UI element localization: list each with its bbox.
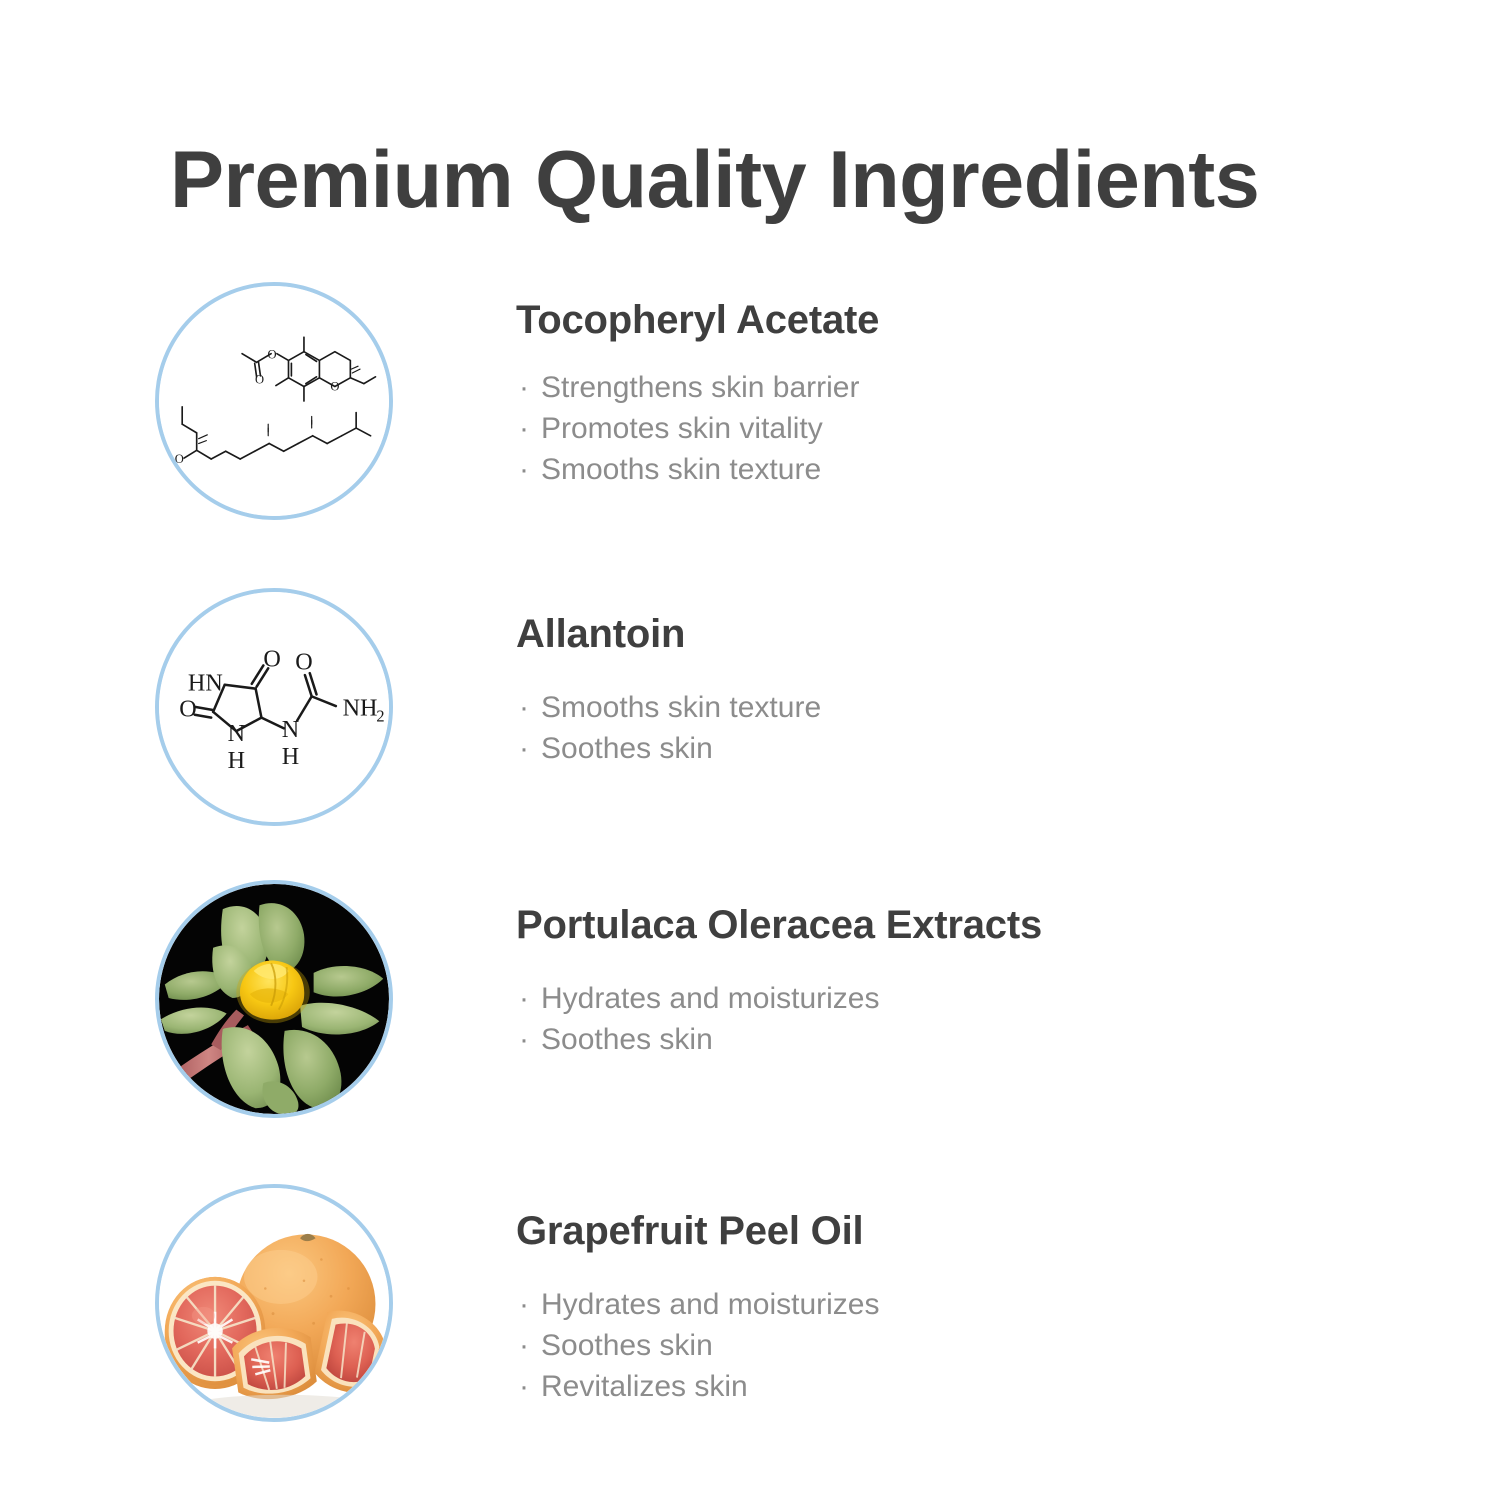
ingredient-name: Portulaca Oleracea Extracts — [516, 904, 1416, 946]
list-item: ·Soothes skin — [516, 728, 1416, 769]
molecule-diagram-icon: HN O O N H N H O NH 2 — [159, 592, 389, 822]
purslane-plant-photo-icon — [159, 884, 389, 1114]
ingredient-name: Tocopheryl Acetate — [516, 299, 1416, 341]
ingredient-image-purslane — [155, 880, 393, 1118]
ingredient-name: Allantoin — [516, 613, 1416, 655]
svg-text:H: H — [282, 743, 299, 770]
ingredient-text-block: Grapefruit Peel Oil ·Hydrates and moistu… — [516, 1184, 1416, 1407]
bullet-icon: · — [519, 449, 529, 490]
svg-text:O: O — [330, 379, 339, 393]
benefit-label: Smooths skin texture — [541, 453, 821, 486]
list-item: ·Soothes skin — [516, 1325, 1416, 1366]
ingredient-text-block: Tocopheryl Acetate ·Strengthens skin bar… — [516, 282, 1416, 490]
bullet-icon: · — [519, 1019, 529, 1060]
benefit-list: ·Smooths skin texture ·Soothes skin — [516, 687, 1416, 769]
benefit-label: Strengthens skin barrier — [541, 371, 860, 404]
list-item: ·Strengthens skin barrier — [516, 367, 1416, 408]
bullet-icon: · — [519, 367, 529, 408]
svg-text:O: O — [255, 373, 264, 387]
svg-text:2: 2 — [376, 706, 384, 725]
bullet-icon: · — [519, 1284, 529, 1325]
svg-text:HN: HN — [188, 670, 223, 697]
ingredient-image-allantoin: HN O O N H N H O NH 2 — [155, 588, 393, 826]
svg-text:O: O — [295, 648, 312, 675]
svg-text:O: O — [268, 347, 277, 361]
bullet-icon: · — [519, 687, 529, 728]
bullet-icon: · — [519, 1325, 529, 1366]
list-item: ·Promotes skin vitality — [516, 408, 1416, 449]
ingredient-text-block: Portulaca Oleracea Extracts ·Hydrates an… — [516, 880, 1416, 1060]
svg-text:NH: NH — [343, 695, 378, 722]
svg-text:O: O — [175, 452, 184, 466]
ingredient-image-tocopheryl-acetate: O O O — [155, 282, 393, 520]
svg-text:O: O — [179, 696, 196, 723]
benefit-label: Hydrates and moisturizes — [541, 1288, 879, 1321]
benefit-list: ·Hydrates and moisturizes ·Soothes skin … — [516, 1284, 1416, 1407]
benefit-list: ·Hydrates and moisturizes ·Soothes skin — [516, 978, 1416, 1060]
benefit-label: Soothes skin — [541, 1023, 713, 1056]
benefit-label: Hydrates and moisturizes — [541, 982, 879, 1015]
benefit-label: Revitalizes skin — [541, 1370, 748, 1403]
list-item: ·Revitalizes skin — [516, 1366, 1416, 1407]
benefit-label: Soothes skin — [541, 732, 713, 765]
svg-text:N: N — [228, 720, 245, 747]
benefit-label: Soothes skin — [541, 1329, 713, 1362]
page-title: Premium Quality Ingredients — [170, 140, 1259, 221]
ingredient-text-block: Allantoin ·Smooths skin texture ·Soothes… — [516, 588, 1416, 769]
molecule-diagram-icon: O O O — [159, 286, 389, 516]
bullet-icon: · — [519, 978, 529, 1019]
svg-text:H: H — [228, 747, 245, 774]
ingredient-image-grapefruit — [155, 1184, 393, 1422]
bullet-icon: · — [519, 408, 529, 449]
bullet-icon: · — [519, 728, 529, 769]
bullet-icon: · — [519, 1366, 529, 1407]
benefit-label: Smooths skin texture — [541, 691, 821, 724]
ingredient-name: Grapefruit Peel Oil — [516, 1210, 1416, 1252]
svg-text:N: N — [282, 716, 299, 743]
list-item: ·Smooths skin texture — [516, 687, 1416, 728]
list-item: ·Smooths skin texture — [516, 449, 1416, 490]
ingredients-infographic: Premium Quality Ingredients — [0, 0, 1500, 1500]
list-item: ·Hydrates and moisturizes — [516, 978, 1416, 1019]
svg-text:O: O — [263, 645, 280, 672]
benefit-label: Promotes skin vitality — [541, 412, 823, 445]
benefit-list: ·Strengthens skin barrier ·Promotes skin… — [516, 367, 1416, 490]
list-item: ·Hydrates and moisturizes — [516, 1284, 1416, 1325]
list-item: ·Soothes skin — [516, 1019, 1416, 1060]
grapefruit-photo-icon — [159, 1188, 389, 1418]
